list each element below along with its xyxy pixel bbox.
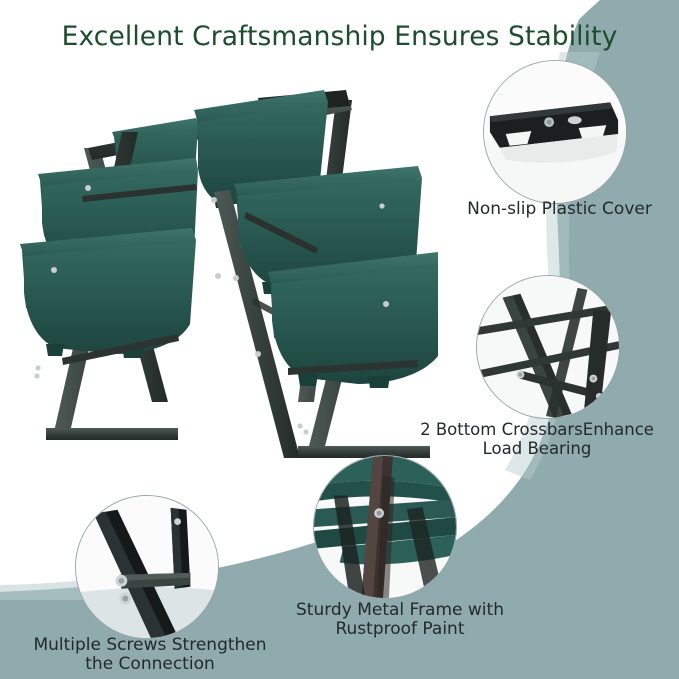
callout-circle-sturdy-metal-frame [313,455,457,599]
frame-feet [46,428,430,458]
callout-caption-bottom-crossbars: 2 Bottom CrossbarsEnhance Load Bearing [395,420,679,458]
page-title: Excellent Craftsmanship Ensures Stabilit… [0,21,679,52]
callout-caption-sturdy-metal-frame: Sturdy Metal Frame with Rustproof Paint [268,601,532,639]
infographic-canvas: Excellent Craftsmanship Ensures Stabilit… [0,0,679,679]
callout-circle-multiple-screws [75,495,219,639]
callout-circle-bottom-crossbars [476,275,620,419]
product-image-tiered-planter [18,72,438,472]
callout-caption-non-slip-plastic-cover: Non-slip Plastic Cover [440,200,679,219]
callout-caption-multiple-screws: Multiple Screws Strengthen the Connectio… [8,636,292,674]
callout-circle-non-slip-plastic-cover [483,60,627,204]
